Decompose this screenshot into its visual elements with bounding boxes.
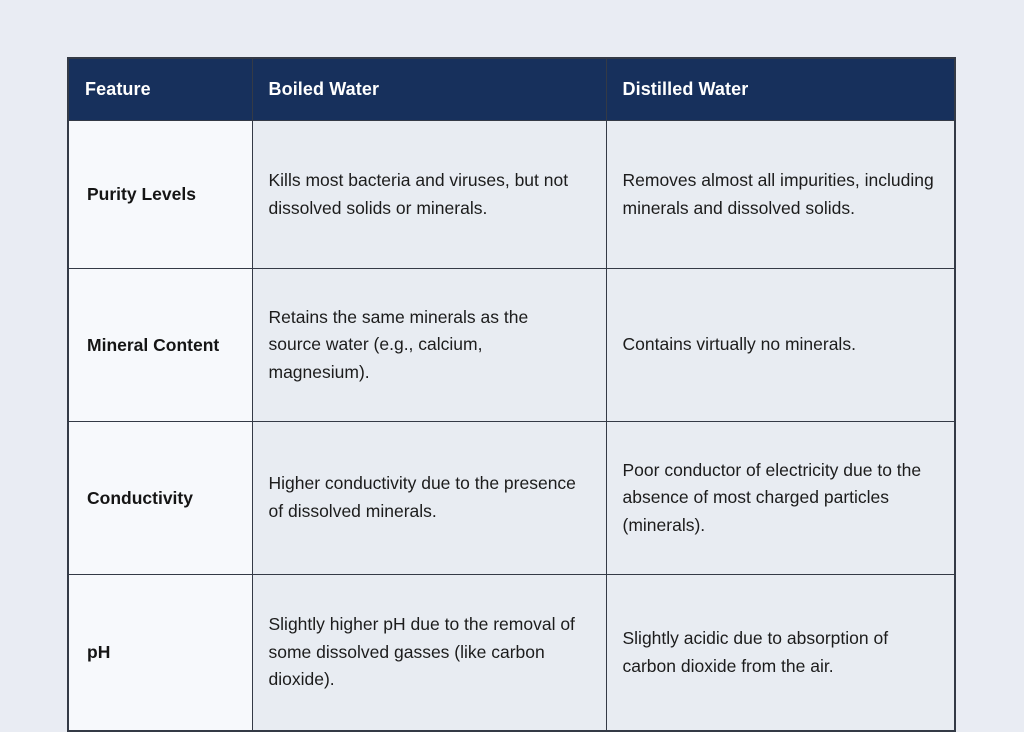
table-body: Purity Levels Kills most bacteria and vi…	[68, 121, 955, 732]
page-root: Feature Boiled Water Distilled Water Pur…	[0, 0, 1024, 672]
column-header-distilled-water: Distilled Water	[606, 58, 955, 121]
comparison-table: Feature Boiled Water Distilled Water Pur…	[67, 57, 956, 732]
cell-distilled-mineral-content: Contains virtually no minerals.	[606, 269, 955, 422]
cell-distilled-conductivity: Poor conductor of electricity due to the…	[606, 422, 955, 575]
column-header-feature: Feature	[68, 58, 252, 121]
feature-label-mineral-content: Mineral Content	[68, 269, 252, 422]
column-header-boiled-water: Boiled Water	[252, 58, 606, 121]
feature-label-conductivity: Conductivity	[68, 422, 252, 575]
cell-boiled-mineral-content: Retains the same minerals as the source …	[252, 269, 606, 422]
cell-distilled-purity-levels: Removes almost all impurities, including…	[606, 121, 955, 269]
cell-boiled-conductivity: Higher conductivity due to the presence …	[252, 422, 606, 575]
cell-boiled-ph: Slightly higher pH due to the removal of…	[252, 575, 606, 732]
cell-boiled-purity-levels: Kills most bacteria and viruses, but not…	[252, 121, 606, 269]
table-row: Purity Levels Kills most bacteria and vi…	[68, 121, 955, 269]
feature-label-ph: pH	[68, 575, 252, 732]
table-row: Conductivity Higher conductivity due to …	[68, 422, 955, 575]
header-row: Feature Boiled Water Distilled Water	[68, 58, 955, 121]
table-row: pH Slightly higher pH due to the removal…	[68, 575, 955, 732]
cell-distilled-ph: Slightly acidic due to absorption of car…	[606, 575, 955, 732]
table-row: Mineral Content Retains the same mineral…	[68, 269, 955, 422]
feature-label-purity-levels: Purity Levels	[68, 121, 252, 269]
table-header: Feature Boiled Water Distilled Water	[68, 58, 955, 121]
